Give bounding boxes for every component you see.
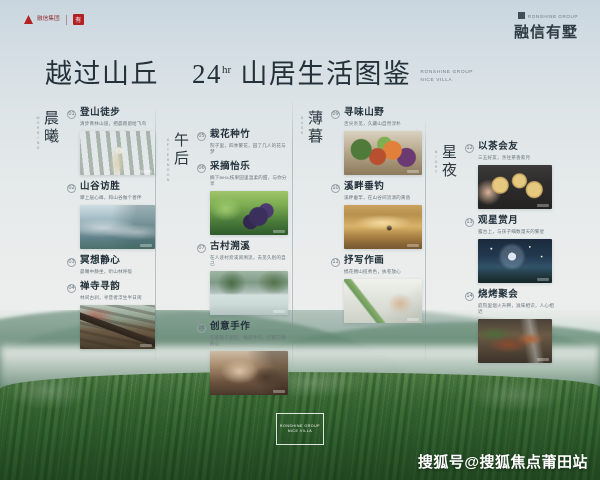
item-description: 晨曦中静坐，听山林呼吸 bbox=[80, 269, 156, 275]
item-title: 烧烤聚会 bbox=[478, 290, 518, 300]
watermark-text: 搜狐号@搜狐焦点莆田站 bbox=[418, 451, 588, 472]
item-description: 清步青林山道，把晨跑留给飞鸟 bbox=[80, 121, 156, 127]
item-header: 12 以茶会友 bbox=[465, 142, 556, 153]
list-item[interactable]: 04 禅寺寻韵 林间古刹，寻昔者浮生半日闲 bbox=[67, 282, 156, 349]
title-number: 24 bbox=[192, 59, 222, 89]
item-description: 院子里，四季繁花，园了几人的花与梦 bbox=[210, 143, 288, 155]
column-items-dusk: 09 寻味山野 舌尖亲见，久藏山自然淳朴 10 溪畔垂钓 溪畔垂竿，在山谷间流淌… bbox=[331, 108, 422, 330]
item-number-icon: 11 bbox=[331, 258, 340, 267]
item-header: 09 寻味山野 bbox=[331, 108, 422, 119]
item-number-icon: 04 bbox=[67, 284, 76, 293]
list-item[interactable]: 11 抒写作画 携花拥山揽秀色，执卷放心 bbox=[331, 256, 422, 323]
item-title: 禅寺寻韵 bbox=[80, 282, 120, 292]
column-title-cn: 星夜 bbox=[438, 144, 459, 180]
item-header: 10 溪畔垂钓 bbox=[331, 182, 422, 193]
item-number-icon: 06 bbox=[197, 164, 206, 173]
brand-cn-top-right: 融信有墅 bbox=[514, 21, 578, 42]
column-items-morning: 01 登山徒步 清步青林山道，把晨跑留给飞鸟 02 山谷访胜 攀上层心峰，和山谷… bbox=[67, 108, 156, 356]
seal-icon: 有 bbox=[73, 14, 84, 25]
item-thumbnail-bbq[interactable] bbox=[478, 319, 552, 363]
title-en-line2: NICE VILLA bbox=[420, 77, 473, 84]
item-title: 抒写作画 bbox=[344, 256, 384, 266]
list-item[interactable]: 02 山谷访胜 攀上层心峰，和山谷做个善伴 bbox=[67, 182, 156, 249]
brand-en-top-right: RONSHINE GROUP bbox=[514, 12, 578, 19]
column-header-dusk: 薄暮 DUSK bbox=[300, 108, 325, 146]
item-thumbnail-stars[interactable] bbox=[478, 239, 552, 283]
item-number-icon: 05 bbox=[197, 132, 206, 141]
item-title: 以茶会友 bbox=[478, 142, 518, 152]
list-item[interactable]: 09 寻味山野 舌尖亲见，久藏山自然淳朴 bbox=[331, 108, 422, 175]
item-number-icon: 09 bbox=[331, 110, 340, 119]
item-header: 08 创意手作 bbox=[197, 322, 288, 333]
list-item[interactable]: 05 栽花种竹 院子里，四季繁花，园了几人的花与梦 bbox=[197, 130, 288, 155]
page-title: 越过山丘 24hr 山居生活图鉴 bbox=[45, 52, 411, 91]
item-description: 在家施于泥巴，雕造手作，打磨宁静的心 bbox=[210, 335, 288, 347]
column-title-cn: 薄暮 bbox=[304, 110, 325, 146]
column-morning: 晨曦 MORNING 01 登山徒步 清步青林山道，把晨跑留给飞鸟 02 山谷访… bbox=[36, 108, 156, 356]
item-header: 07 古村溯溪 bbox=[197, 242, 288, 253]
item-number-icon: 13 bbox=[465, 218, 474, 227]
column-title-en: AFTERNOON bbox=[166, 138, 170, 183]
item-header: 13 观星赏月 bbox=[465, 216, 556, 227]
item-header: 04 禅寺寻韵 bbox=[67, 282, 156, 293]
item-thumbnail-trail[interactable] bbox=[80, 131, 155, 175]
item-description: 溪畔垂竿，在山谷间流淌的黄昏 bbox=[344, 195, 422, 201]
item-title: 寻味山野 bbox=[344, 108, 384, 118]
column-afternoon: 午后 AFTERNOON 05 栽花种竹 院子里，四季繁花，园了几人的花与梦 0… bbox=[166, 130, 288, 402]
column-divider-3 bbox=[425, 122, 426, 360]
item-number-icon: 14 bbox=[465, 292, 474, 301]
brand-logo-footer: RONSHINE GROUP NICE VILLA bbox=[276, 413, 324, 445]
item-description: 三五好友，烹往茶香萦月 bbox=[478, 155, 556, 161]
item-title: 登山徒步 bbox=[80, 108, 120, 118]
column-items-afternoon: 05 栽花种竹 院子里，四季繁花，园了几人的花与梦 06 采摘怡乐 摘下весь… bbox=[197, 130, 288, 402]
list-item[interactable]: 10 溪畔垂钓 溪畔垂竿，在山谷间流淌的黄昏 bbox=[331, 182, 422, 249]
column-divider-2 bbox=[292, 100, 293, 368]
item-number-icon: 02 bbox=[67, 184, 76, 193]
column-title-cn: 晨曦 bbox=[40, 110, 61, 151]
item-thumbnail-river[interactable] bbox=[210, 271, 288, 315]
item-description: 庭院里烟火升腾，滋味相识，人心相近 bbox=[478, 303, 556, 315]
list-item[interactable]: 01 登山徒步 清步青林山道，把晨跑留给飞鸟 bbox=[67, 108, 156, 175]
item-title: 创意手作 bbox=[210, 322, 250, 332]
footer-logo-text: RONSHINE GROUP NICE VILLA bbox=[280, 424, 320, 435]
list-item[interactable]: 07 古村溯溪 在人迹村旁溪涧溯流，去见久别的自己 bbox=[197, 242, 288, 315]
column-header-morning: 晨曦 MORNING bbox=[36, 108, 61, 151]
poster-title-row: 越过山丘 24hr 山居生活图鉴 RONSHINE GROUP NICE VIL… bbox=[45, 52, 473, 91]
column-dusk: 薄暮 DUSK 09 寻味山野 舌尖亲见，久藏山自然淳朴 10 溪畔垂钓 bbox=[300, 108, 422, 330]
item-header: 14 烧烤聚会 bbox=[465, 290, 556, 301]
list-item[interactable]: 06 采摘怡乐 摘下весь枝果园里温柔的甜，与你分享 bbox=[197, 162, 288, 235]
item-header: 11 抒写作画 bbox=[331, 256, 422, 267]
item-title: 观星赏月 bbox=[478, 216, 518, 226]
column-title-en: MORNING bbox=[36, 116, 40, 151]
item-description: 露台上，与孩子细数漫天的繁星 bbox=[478, 229, 556, 235]
item-number-icon: 03 bbox=[67, 258, 76, 267]
logo-divider bbox=[66, 15, 67, 25]
footer-logo-line1: RONSHINE GROUP bbox=[280, 424, 320, 428]
brand-logo-top-left: 融信集团 有 bbox=[24, 14, 84, 25]
item-description: 林间古刹，寻昔者浮生半日闲 bbox=[80, 295, 156, 301]
title-unit: hr bbox=[222, 64, 231, 76]
column-header-night: 星夜 NIGHT bbox=[434, 142, 459, 180]
item-title: 溪畔垂钓 bbox=[344, 182, 384, 192]
item-thumbnail-mountain[interactable] bbox=[80, 205, 155, 249]
list-item[interactable]: 08 创意手作 在家施于泥巴，雕造手作，打磨宁静的心 bbox=[197, 322, 288, 395]
item-thumbnail-temple[interactable] bbox=[80, 305, 155, 349]
column-items-night: 12 以茶会友 三五好友，烹往茶香萦月 13 观星赏月 露台上，与孩子细数漫天的… bbox=[465, 142, 556, 370]
item-description: 攀上层心峰，和山谷做个善伴 bbox=[80, 195, 156, 201]
item-thumbnail-grape[interactable] bbox=[210, 191, 288, 235]
column-header-afternoon: 午后 AFTERNOON bbox=[166, 130, 191, 183]
title-prefix: 越过山丘 bbox=[45, 59, 159, 89]
item-thumbnail-craft[interactable] bbox=[210, 351, 288, 395]
item-number-icon: 12 bbox=[465, 144, 474, 153]
poster-root: 融信集团 有 RONSHINE GROUP 融信有墅 越过山丘 24hr 山居生… bbox=[0, 0, 600, 480]
item-header: 06 采摘怡乐 bbox=[197, 162, 288, 173]
item-header: 05 栽花种竹 bbox=[197, 130, 288, 141]
item-thumbnail-tea[interactable] bbox=[478, 165, 552, 209]
item-header: 02 山谷访胜 bbox=[67, 182, 156, 193]
title-english-tag: RONSHINE GROUP NICE VILLA bbox=[420, 69, 473, 91]
ronshine-triangle-icon bbox=[24, 15, 33, 24]
item-number-icon: 07 bbox=[197, 244, 206, 253]
list-item[interactable]: 03 冥想静心 晨曦中静坐，听山林呼吸 bbox=[67, 256, 156, 275]
brand-logo-top-right: RONSHINE GROUP 融信有墅 bbox=[514, 12, 578, 42]
item-number-icon: 10 bbox=[331, 184, 340, 193]
item-title: 冥想静心 bbox=[80, 256, 120, 266]
item-description: 在人迹村旁溪涧溯流，去见久别的自己 bbox=[210, 255, 288, 267]
item-title: 山谷访胜 bbox=[80, 182, 120, 192]
title-suffix: 山居生活图鉴 bbox=[240, 59, 411, 89]
item-description: 摘下весь枝果园里温柔的甜，与你分享 bbox=[210, 175, 288, 187]
item-title: 采摘怡乐 bbox=[210, 162, 250, 172]
footer-logo-line2: NICE VILLA bbox=[288, 429, 312, 433]
list-item[interactable]: 14 烧烤聚会 庭院里烟火升腾，滋味相识，人心相近 bbox=[465, 290, 556, 363]
list-item[interactable]: 13 观星赏月 露台上，与孩子细数漫天的繁星 bbox=[465, 216, 556, 283]
item-title: 古村溯溪 bbox=[210, 242, 250, 252]
column-title-cn: 午后 bbox=[170, 132, 191, 183]
title-en-line1: RONSHINE GROUP bbox=[420, 69, 473, 76]
item-description: 携花拥山揽秀色，执卷放心 bbox=[344, 269, 422, 275]
item-header: 01 登山徒步 bbox=[67, 108, 156, 119]
item-thumbnail-fishing[interactable] bbox=[344, 205, 422, 249]
brand-wordmark-left: 融信集团 bbox=[37, 16, 60, 22]
list-item[interactable]: 12 以茶会友 三五好友，烹往茶香萦月 bbox=[465, 142, 556, 209]
item-number-icon: 01 bbox=[67, 110, 76, 119]
item-number-icon: 08 bbox=[197, 324, 206, 333]
item-thumbnail-vegetables[interactable] bbox=[344, 131, 422, 175]
column-night: 星夜 NIGHT 12 以茶会友 三五好友，烹往茶香萦月 13 观星赏月 bbox=[434, 142, 556, 370]
item-title: 栽花种竹 bbox=[210, 130, 250, 140]
item-description: 舌尖亲见，久藏山自然淳朴 bbox=[344, 121, 422, 127]
item-thumbnail-painting[interactable] bbox=[344, 279, 422, 323]
item-header: 03 冥想静心 bbox=[67, 256, 156, 267]
